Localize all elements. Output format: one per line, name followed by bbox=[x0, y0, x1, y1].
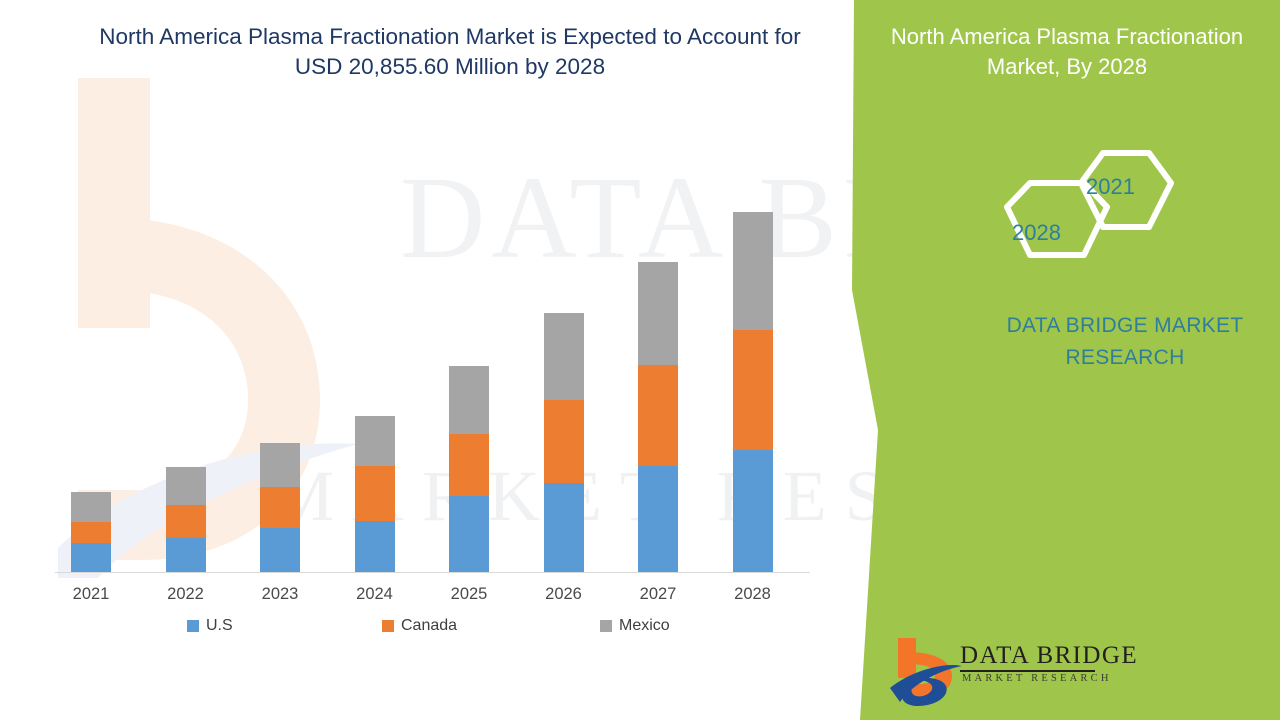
hexagon-label-new: 2021 bbox=[1086, 174, 1135, 200]
bar-segment-us[interactable] bbox=[166, 538, 206, 572]
legend-item-mexico[interactable]: Mexico bbox=[600, 617, 670, 635]
bar-segment-mexico[interactable] bbox=[166, 467, 206, 505]
bar-group-2023[interactable] bbox=[260, 443, 300, 572]
bar-segment-mexico[interactable] bbox=[355, 416, 395, 466]
logo-name: DATA BRIDGE bbox=[960, 642, 1138, 670]
chart-plot-area bbox=[55, 180, 810, 573]
bar-segment-us[interactable] bbox=[71, 543, 111, 572]
bar-group-2021[interactable] bbox=[71, 492, 111, 572]
bar-group-2022[interactable] bbox=[166, 467, 206, 572]
bar-segment-us[interactable] bbox=[544, 483, 584, 572]
bar-segment-canada[interactable] bbox=[733, 330, 773, 450]
bar-segment-us[interactable] bbox=[449, 496, 489, 572]
bar-segment-mexico[interactable] bbox=[449, 366, 489, 434]
x-axis-label-2027: 2027 bbox=[613, 585, 703, 604]
x-axis-labels: 20212022202320242025202620272028 bbox=[55, 585, 810, 611]
bar-segment-canada[interactable] bbox=[544, 400, 584, 483]
bar-group-2027[interactable] bbox=[638, 262, 678, 572]
logo-subtitle: MARKET RESEARCH bbox=[962, 673, 1112, 684]
x-axis-label-2023: 2023 bbox=[235, 585, 325, 604]
chart-title: North America Plasma Fractionation Marke… bbox=[90, 22, 810, 81]
legend-item-canada[interactable]: Canada bbox=[382, 617, 457, 635]
bar-segment-us[interactable] bbox=[260, 528, 300, 572]
legend-swatch-icon bbox=[600, 620, 612, 632]
legend-label: Mexico bbox=[619, 617, 670, 635]
x-axis-label-2022: 2022 bbox=[141, 585, 231, 604]
bar-segment-us[interactable] bbox=[355, 521, 395, 572]
bar-segment-canada[interactable] bbox=[166, 505, 206, 538]
chart-legend: U.SCanadaMexico bbox=[55, 617, 810, 641]
logo-divider bbox=[960, 670, 1095, 672]
x-axis-label-2025: 2025 bbox=[424, 585, 514, 604]
bar-group-2026[interactable] bbox=[544, 313, 584, 572]
bar-segment-us[interactable] bbox=[638, 466, 678, 572]
bar-group-2024[interactable] bbox=[355, 416, 395, 572]
hexagon-label-old: 2028 bbox=[1012, 220, 1061, 246]
bar-segment-canada[interactable] bbox=[449, 434, 489, 496]
bar-segment-mexico[interactable] bbox=[544, 313, 584, 400]
legend-item-us[interactable]: U.S bbox=[187, 617, 233, 635]
bar-segment-canada[interactable] bbox=[355, 466, 395, 521]
bar-group-2028[interactable] bbox=[733, 212, 773, 572]
bar-segment-us[interactable] bbox=[733, 450, 773, 572]
x-axis-label-2021: 2021 bbox=[46, 585, 136, 604]
bar-segment-canada[interactable] bbox=[260, 487, 300, 528]
bar-segment-canada[interactable] bbox=[71, 522, 111, 543]
bar-segment-mexico[interactable] bbox=[71, 492, 111, 522]
bar-segment-canada[interactable] bbox=[638, 365, 678, 466]
hexagon-badges: 2021 2028 bbox=[985, 145, 1180, 285]
bar-segment-mexico[interactable] bbox=[260, 443, 300, 487]
legend-swatch-icon bbox=[187, 620, 199, 632]
x-axis-line bbox=[55, 572, 810, 573]
bar-segment-mexico[interactable] bbox=[733, 212, 773, 330]
legend-label: U.S bbox=[206, 617, 233, 635]
legend-swatch-icon bbox=[382, 620, 394, 632]
bar-segment-mexico[interactable] bbox=[638, 262, 678, 365]
infographic-canvas: DATA BRIDGE MARKET RESEARCH North Americ… bbox=[0, 0, 1280, 720]
x-axis-label-2028: 2028 bbox=[708, 585, 798, 604]
panel-title: North America Plasma Fractionation Marke… bbox=[862, 22, 1272, 83]
x-axis-label-2024: 2024 bbox=[330, 585, 420, 604]
data-bridge-logo: DATA BRIDGE MARKET RESEARCH bbox=[890, 636, 1120, 708]
x-axis-label-2026: 2026 bbox=[519, 585, 609, 604]
legend-label: Canada bbox=[401, 617, 457, 635]
bar-group-2025[interactable] bbox=[449, 366, 489, 572]
panel-brand-text: DATA BRIDGE MARKET RESEARCH bbox=[965, 310, 1280, 373]
